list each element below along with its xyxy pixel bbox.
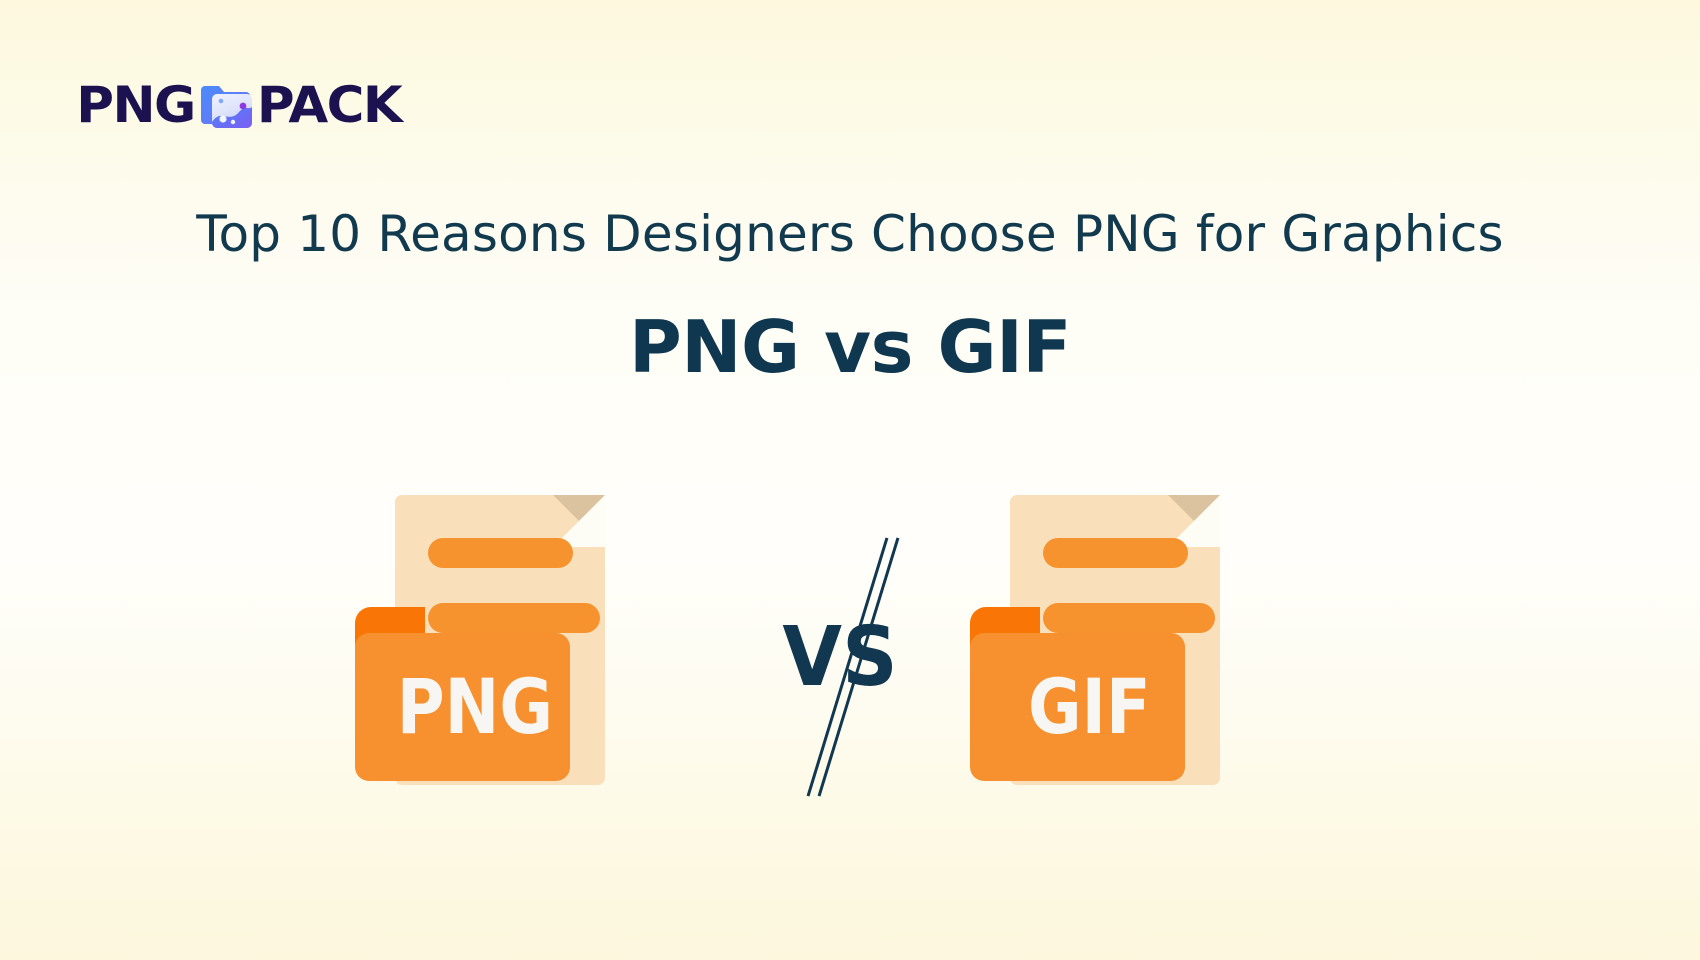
page-title: Top 10 Reasons Designers Choose PNG for … <box>0 205 1700 263</box>
logo-word-pack: PACK <box>257 80 401 130</box>
format-badge-label: GIF <box>1028 669 1151 745</box>
document-text-line <box>428 538 573 568</box>
logo-word-png: PNG <box>76 80 194 130</box>
format-comparison: PNG VS GIF <box>0 470 1700 810</box>
brand-logo[interactable]: PNG <box>78 78 399 132</box>
document-text-line <box>1043 538 1188 568</box>
image-folder-icon <box>199 80 255 130</box>
document-text-line <box>428 603 600 633</box>
format-badge-label: PNG <box>396 669 552 745</box>
format-badge: GIF <box>970 633 1185 781</box>
page-subtitle: PNG vs GIF <box>0 305 1700 389</box>
format-badge: PNG <box>355 633 570 781</box>
gif-file-icon: GIF <box>970 495 1220 800</box>
versus-separator: VS <box>740 565 940 765</box>
document-text-line <box>1043 603 1215 633</box>
png-file-icon: PNG <box>355 495 605 800</box>
